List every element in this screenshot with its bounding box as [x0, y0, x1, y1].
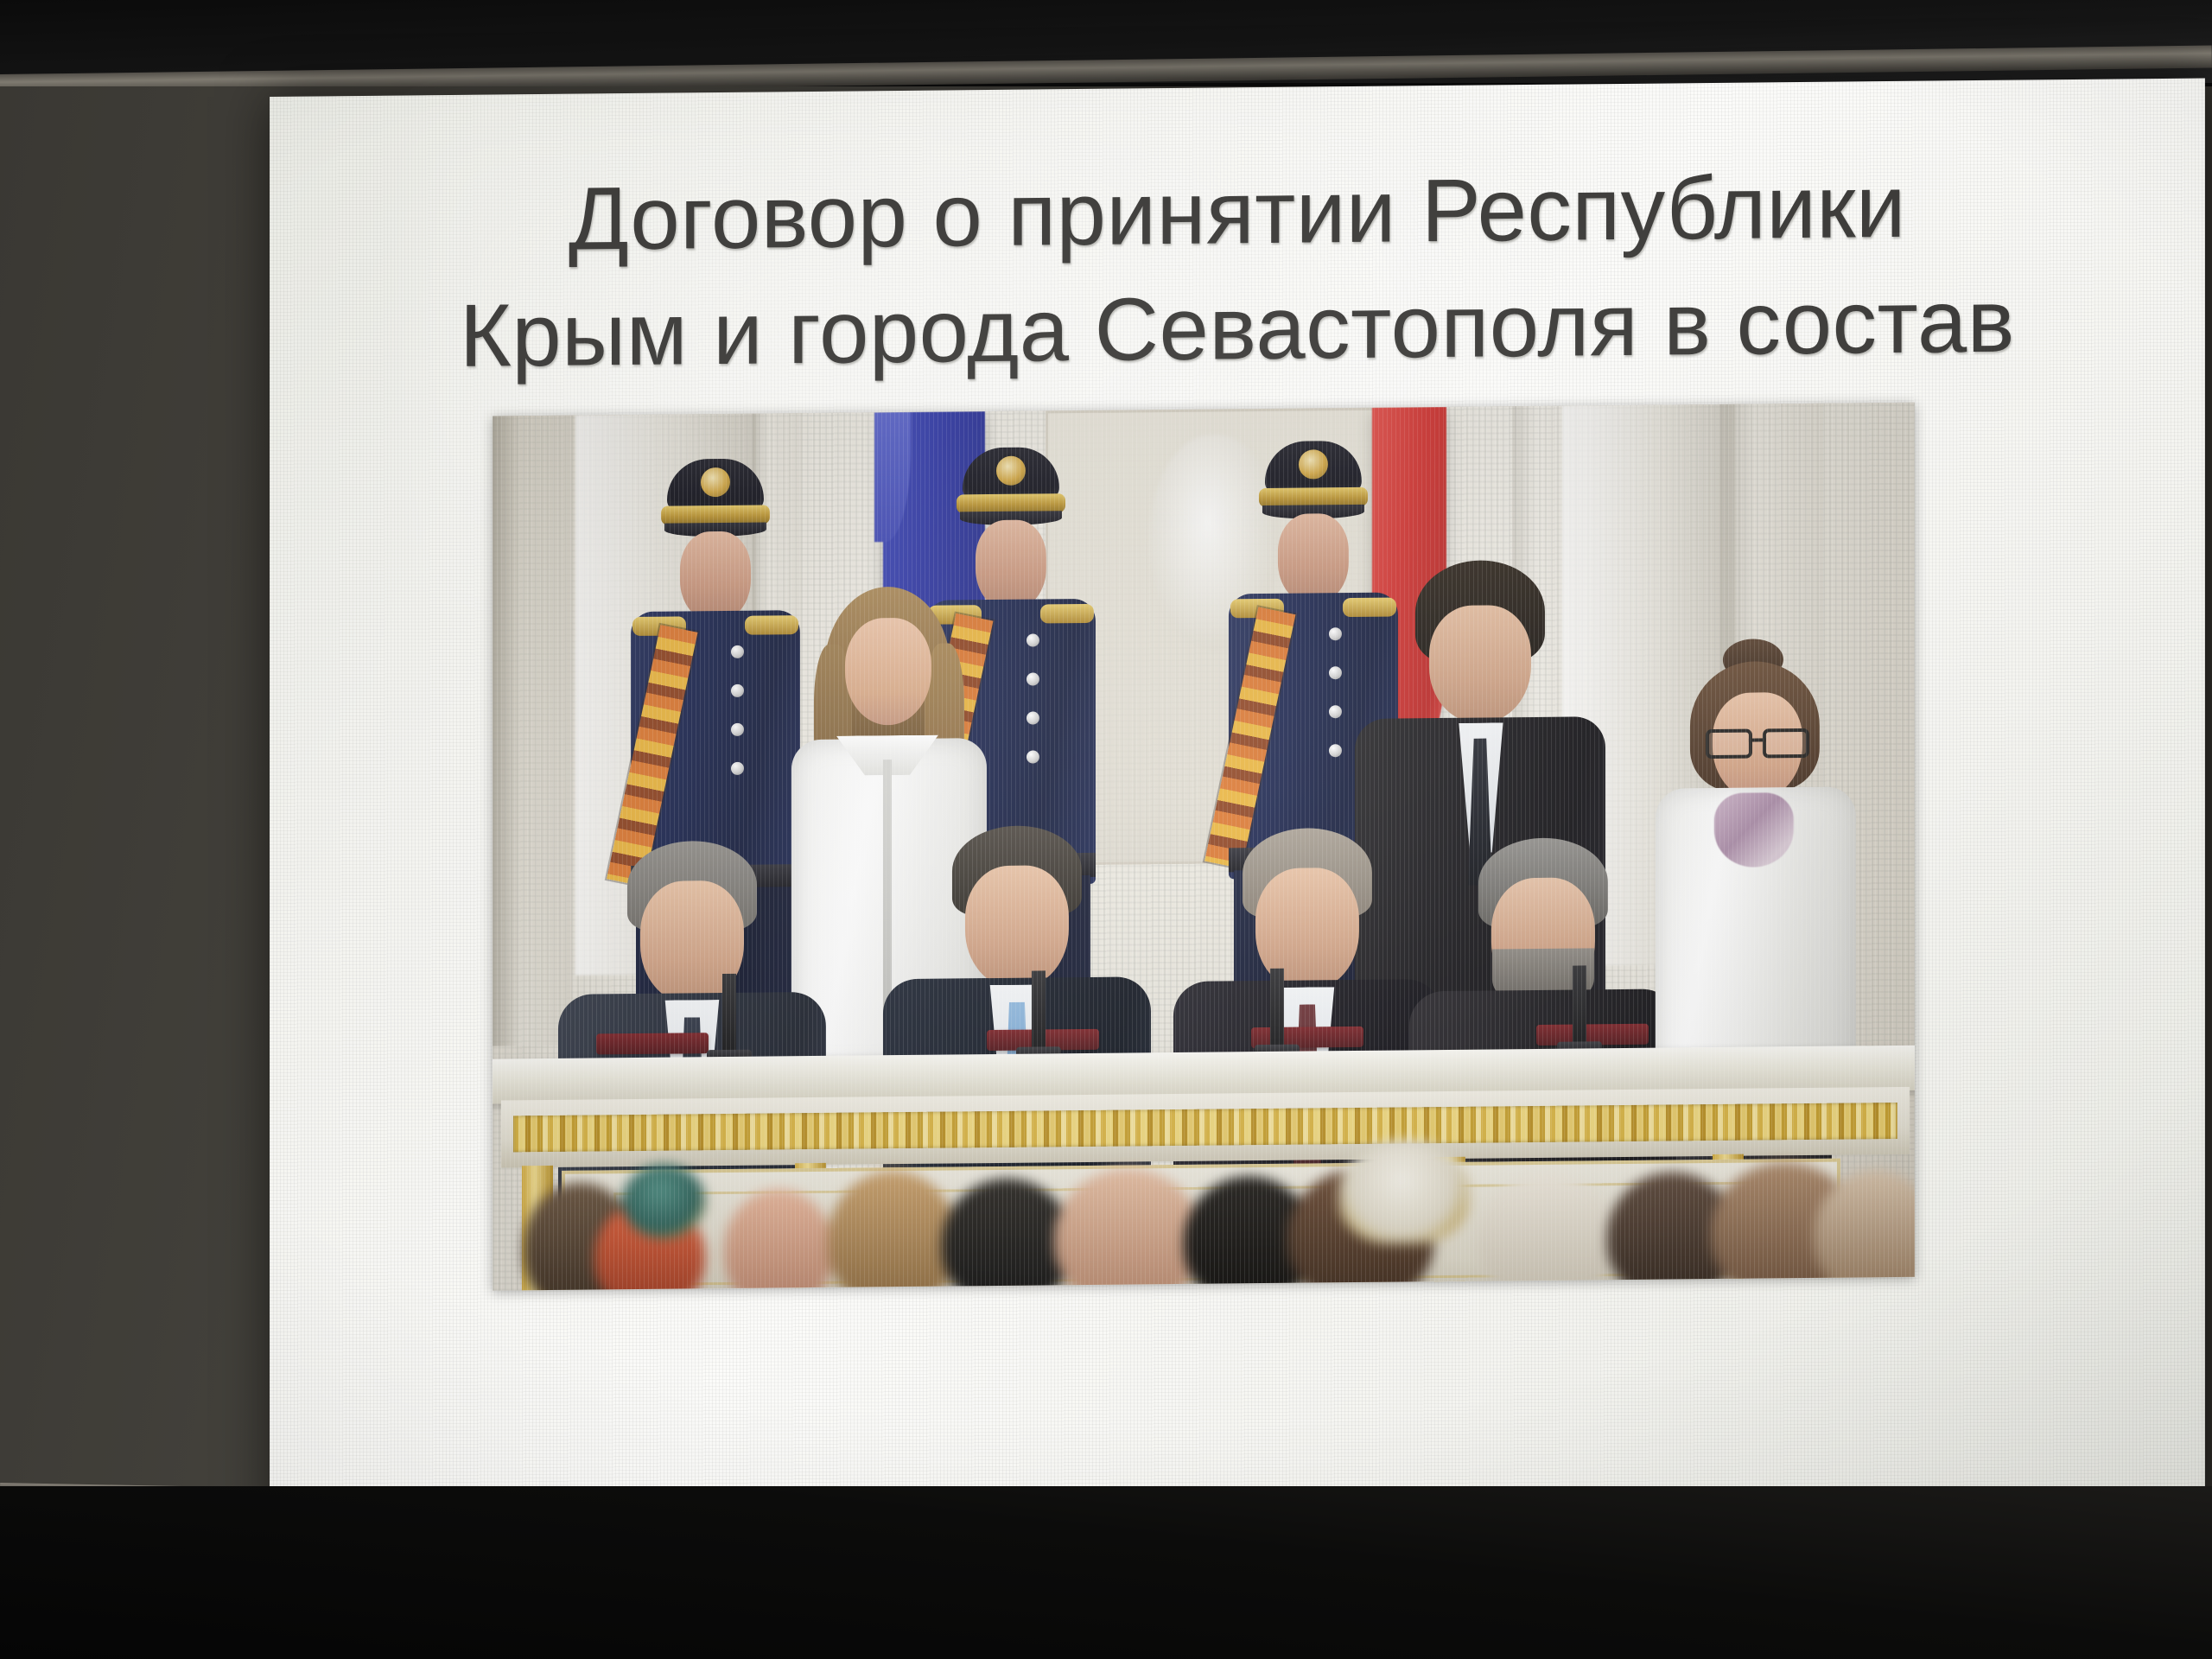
photograph-content [493, 403, 1915, 1291]
audience-head [828, 1170, 957, 1290]
floor-band [0, 1486, 2212, 1659]
guard-face [680, 531, 751, 622]
microphone-icon [1032, 970, 1046, 1053]
eyeglasses-icon [1706, 728, 1809, 752]
assistant-scarf [1714, 792, 1794, 868]
audience-head [724, 1189, 833, 1291]
treaty-folder [596, 1033, 709, 1054]
guard-buttons [1329, 627, 1343, 852]
guard-face [1278, 513, 1349, 604]
audience-head [942, 1178, 1071, 1290]
foreground-audience [493, 1160, 1915, 1291]
slide-photograph[interactable] [493, 403, 1915, 1291]
audience-skullcap [622, 1164, 705, 1239]
audience-head [1478, 1173, 1616, 1290]
audience-head [1054, 1168, 1201, 1291]
guard-helmet-icon [963, 447, 1059, 499]
guard-helmet-icon [667, 459, 764, 512]
guard-epaulette [1040, 604, 1094, 624]
microphone-icon [722, 974, 736, 1057]
microphone-icon [1270, 969, 1284, 1052]
slide-title-line-1: Договор о принятии Республики [296, 146, 2179, 280]
projection-screen[interactable]: Договор о принятии Республики Крым и гор… [270, 78, 2205, 1540]
attendant-face [1429, 605, 1531, 723]
slide-title-line-2: Крым и города Севастополя в состав [296, 262, 2179, 396]
attendant-face [845, 618, 931, 726]
microphone-icon [1573, 965, 1586, 1048]
audience-white-cap [1339, 1140, 1469, 1244]
signatory-face [965, 865, 1069, 988]
guard-buttons [731, 645, 745, 870]
projector-room: Договор о принятии Республики Крым и гор… [0, 0, 2212, 1659]
slide-title: Договор о принятии Республики Крым и гор… [270, 146, 2205, 396]
guard-helmet-icon [1265, 441, 1362, 493]
